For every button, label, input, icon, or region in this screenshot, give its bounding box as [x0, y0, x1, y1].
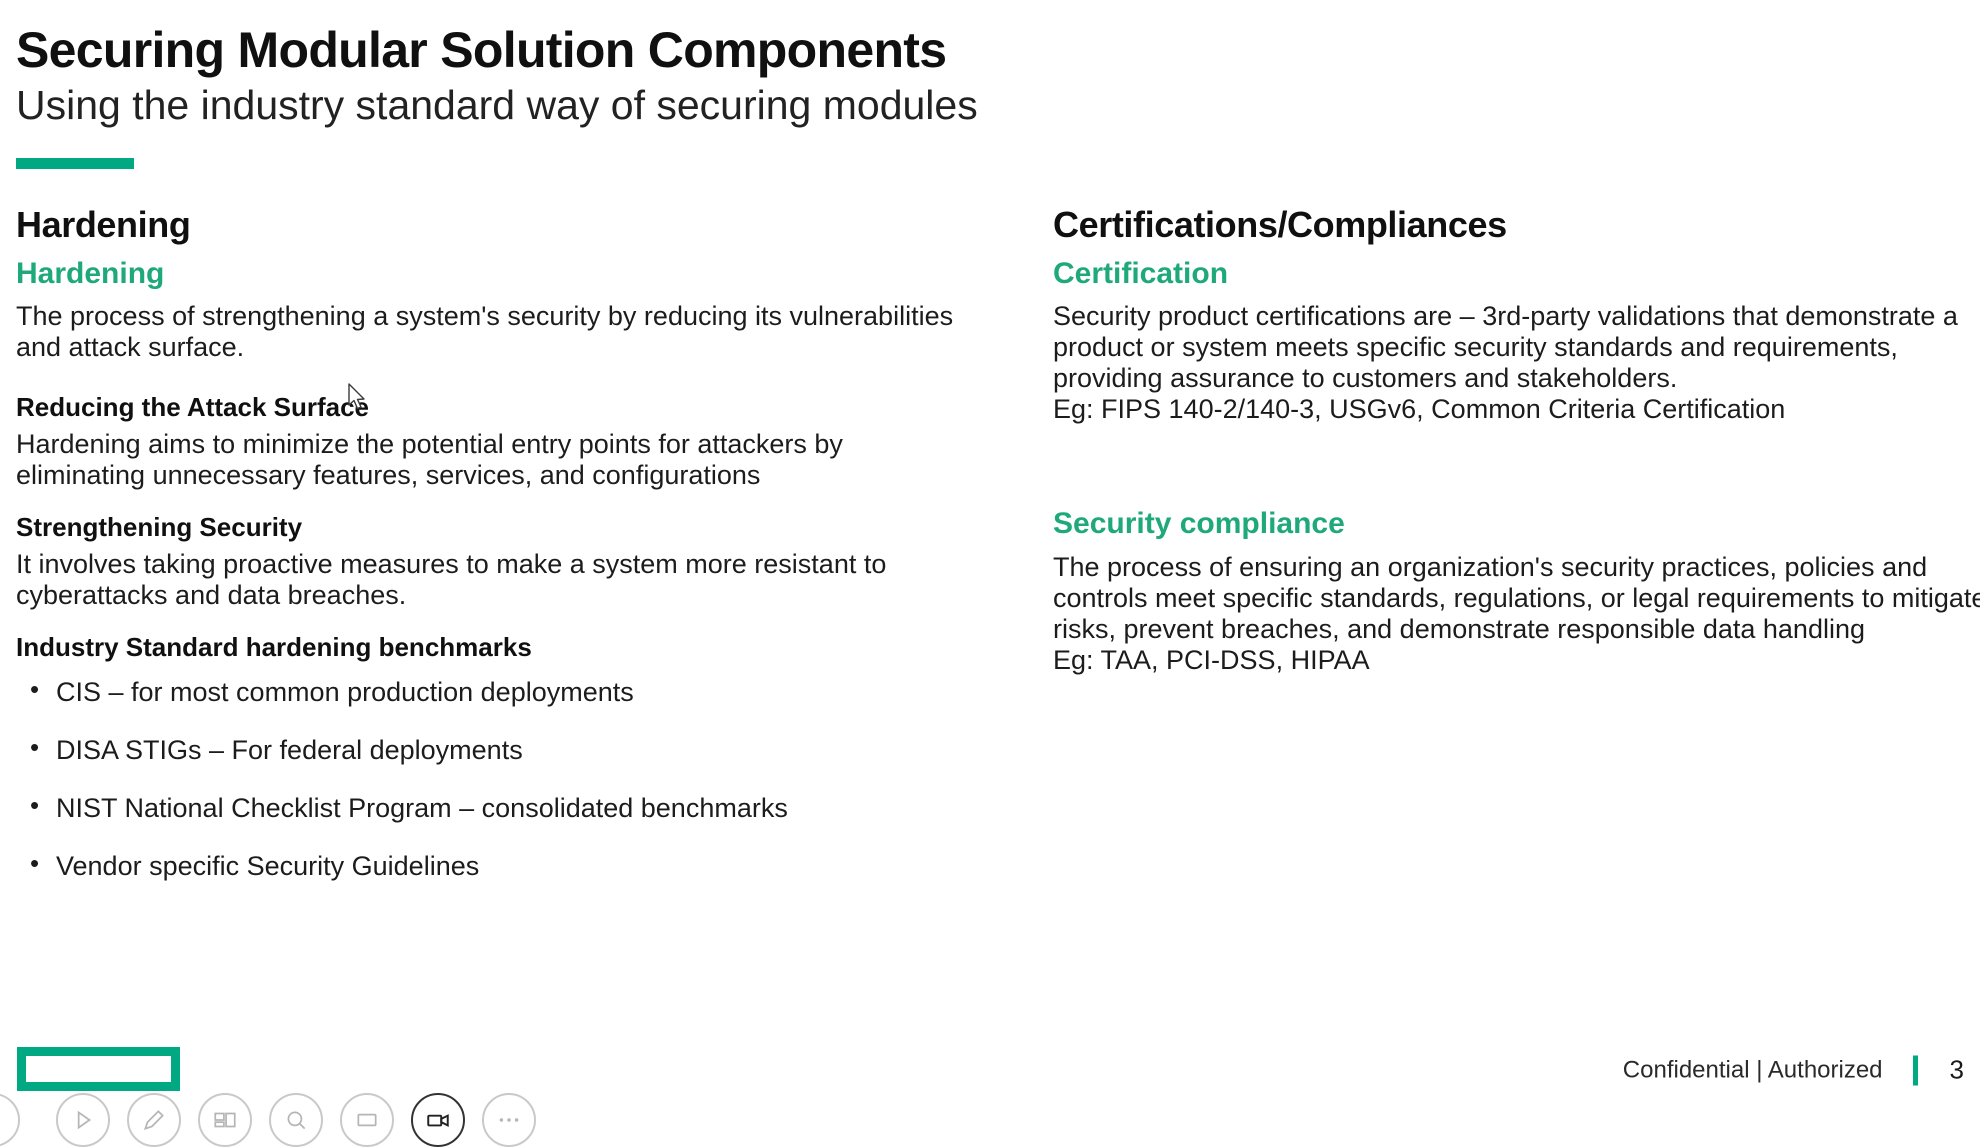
blank-screen-button[interactable]: [340, 1093, 394, 1147]
left-column-intro: The process of strengthening a system's …: [16, 301, 976, 363]
certification-example: Eg: FIPS 140-2/140-3, USGv6, Common Crit…: [1053, 394, 1980, 425]
security-compliance-body: The process of ensuring an organization'…: [1053, 552, 1980, 645]
section-body-strengthening-security: It involves taking proactive measures to…: [16, 549, 976, 611]
left-column-subheading: Hardening: [16, 257, 976, 292]
pen-button[interactable]: [127, 1093, 181, 1147]
title-block: Securing Modular Solution Components Usi…: [16, 24, 1916, 129]
slide-canvas: Securing Modular Solution Components Usi…: [0, 0, 1980, 1116]
page-subtitle: Using the industry standard way of secur…: [16, 83, 1916, 129]
list-item: Vendor specific Security Guidelines: [16, 851, 976, 882]
list-item: CIS – for most common production deploym…: [16, 677, 976, 708]
slide-number: 3: [1918, 1055, 1964, 1086]
security-compliance-subheading: Security compliance: [1053, 507, 1980, 542]
section-title-strengthening-security: Strengthening Security: [16, 513, 976, 543]
certification-body: Security product certifications are – 3r…: [1053, 301, 1980, 394]
list-item: NIST National Checklist Program – consol…: [16, 793, 976, 824]
hpe-logo: [17, 1047, 180, 1091]
slides-grid-icon: [212, 1107, 238, 1133]
laser-pointer-button[interactable]: [56, 1093, 110, 1147]
slides-grid-button[interactable]: [198, 1093, 252, 1147]
zoom-icon: [283, 1107, 309, 1133]
right-column: Certifications/Compliances Certification…: [1053, 205, 1980, 684]
column-spacer: [1053, 433, 1980, 507]
page-title: Securing Modular Solution Components: [16, 24, 1916, 77]
blank-screen-icon: [354, 1107, 380, 1133]
left-column: Hardening Hardening The process of stren…: [16, 205, 976, 909]
right-column-heading: Certifications/Compliances: [1053, 205, 1980, 245]
section-title-reducing-attack-surface: Reducing the Attack Surface: [16, 393, 976, 423]
laser-pointer-icon: [70, 1107, 96, 1133]
pen-icon: [141, 1107, 167, 1133]
more-options-button[interactable]: [482, 1093, 536, 1147]
footer-right: Confidential | Authorized 3: [1623, 1055, 1964, 1086]
camera-button[interactable]: [411, 1093, 465, 1147]
classification-label: Confidential | Authorized: [1623, 1056, 1913, 1084]
left-column-heading: Hardening: [16, 205, 976, 245]
certification-subheading: Certification: [1053, 257, 1980, 292]
benchmarks-list: CIS – for most common production deploym…: [16, 677, 976, 882]
presenter-toolbar: [56, 1093, 536, 1147]
title-accent-bar: [16, 158, 134, 169]
security-compliance-example: Eg: TAA, PCI-DSS, HIPAA: [1053, 645, 1980, 676]
list-item: DISA STIGs – For federal deployments: [16, 735, 976, 766]
more-options-icon: [496, 1107, 522, 1133]
zoom-button[interactable]: [269, 1093, 323, 1147]
toolbar-button-partial[interactable]: [0, 1093, 20, 1147]
camera-icon: [425, 1107, 451, 1133]
section-body-reducing-attack-surface: Hardening aims to minimize the potential…: [16, 429, 976, 491]
benchmarks-title: Industry Standard hardening benchmarks: [16, 633, 976, 663]
